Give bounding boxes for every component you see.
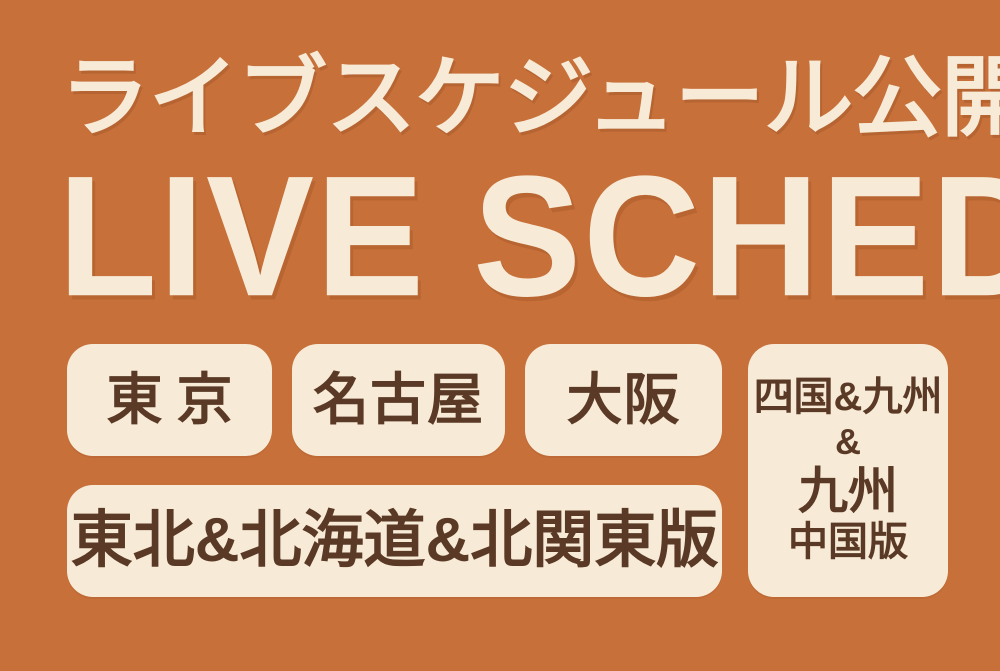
region-button-tohoku-hokkaido-kitakanto-label: 東北&北海道&北関東版 — [71, 510, 719, 572]
region-button-shikoku-kyushu-line3: 九州 — [798, 466, 898, 516]
region-button-nagoya-label: 名古屋 — [313, 372, 484, 428]
region-button-shikoku-kyushu-chugoku[interactable]: 四国&九州 & 九州 中国版 — [748, 344, 948, 597]
region-button-tohoku-hokkaido-kitakanto[interactable]: 東北&北海道&北関東版 — [67, 485, 722, 597]
region-button-osaka-label: 大阪 — [567, 372, 681, 428]
region-button-shikoku-kyushu-line2: & — [835, 424, 861, 460]
page-title-latin: LIVE SCHEDULE — [58, 158, 968, 317]
page-title-katakana: ライブスケジュール公開中 — [60, 46, 978, 150]
region-button-osaka[interactable]: 大阪 — [525, 344, 722, 456]
region-button-shikoku-kyushu-line1: 四国&九州 — [754, 377, 943, 417]
live-schedule-poster: ライブスケジュール公開中 LIVE SCHEDULE 東京 名古屋 大阪 東北&… — [0, 0, 1000, 671]
region-button-nagoya[interactable]: 名古屋 — [292, 344, 505, 456]
region-button-tokyo[interactable]: 東京 — [67, 344, 272, 456]
region-button-shikoku-kyushu-line4: 中国版 — [788, 522, 908, 562]
region-button-tokyo-label: 東京 — [93, 372, 247, 428]
